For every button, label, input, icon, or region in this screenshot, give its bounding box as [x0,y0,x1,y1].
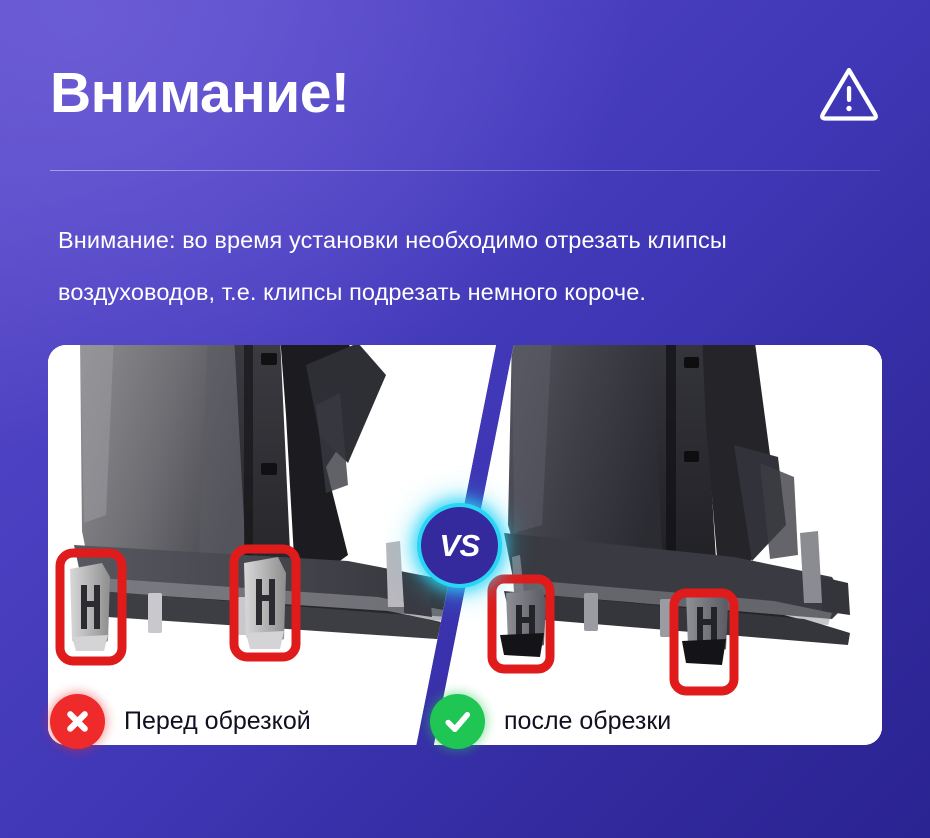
vs-label: VS [439,528,479,564]
clip-uncut-right [244,557,286,649]
vs-badge: VS [417,503,502,588]
before-label-row: Перед обрезкой [50,694,311,749]
page-title: Внимание! [50,65,349,122]
after-label-row: после обрезки [430,694,671,749]
check-circle-icon [430,694,485,749]
clip-trimmed-right [682,589,728,665]
before-label: Перед обрезкой [124,707,311,736]
after-label: после обрезки [504,707,671,736]
notice-text: Внимание: во время установки необходимо … [58,214,884,318]
poster-header: Внимание! [50,48,880,138]
clip-uncut-left [70,563,110,651]
cross-circle-icon [50,694,105,749]
header-divider [50,170,880,171]
warning-triangle-icon [818,64,880,122]
warning-poster: Внимание! Внимание: во время установки н… [0,0,930,838]
